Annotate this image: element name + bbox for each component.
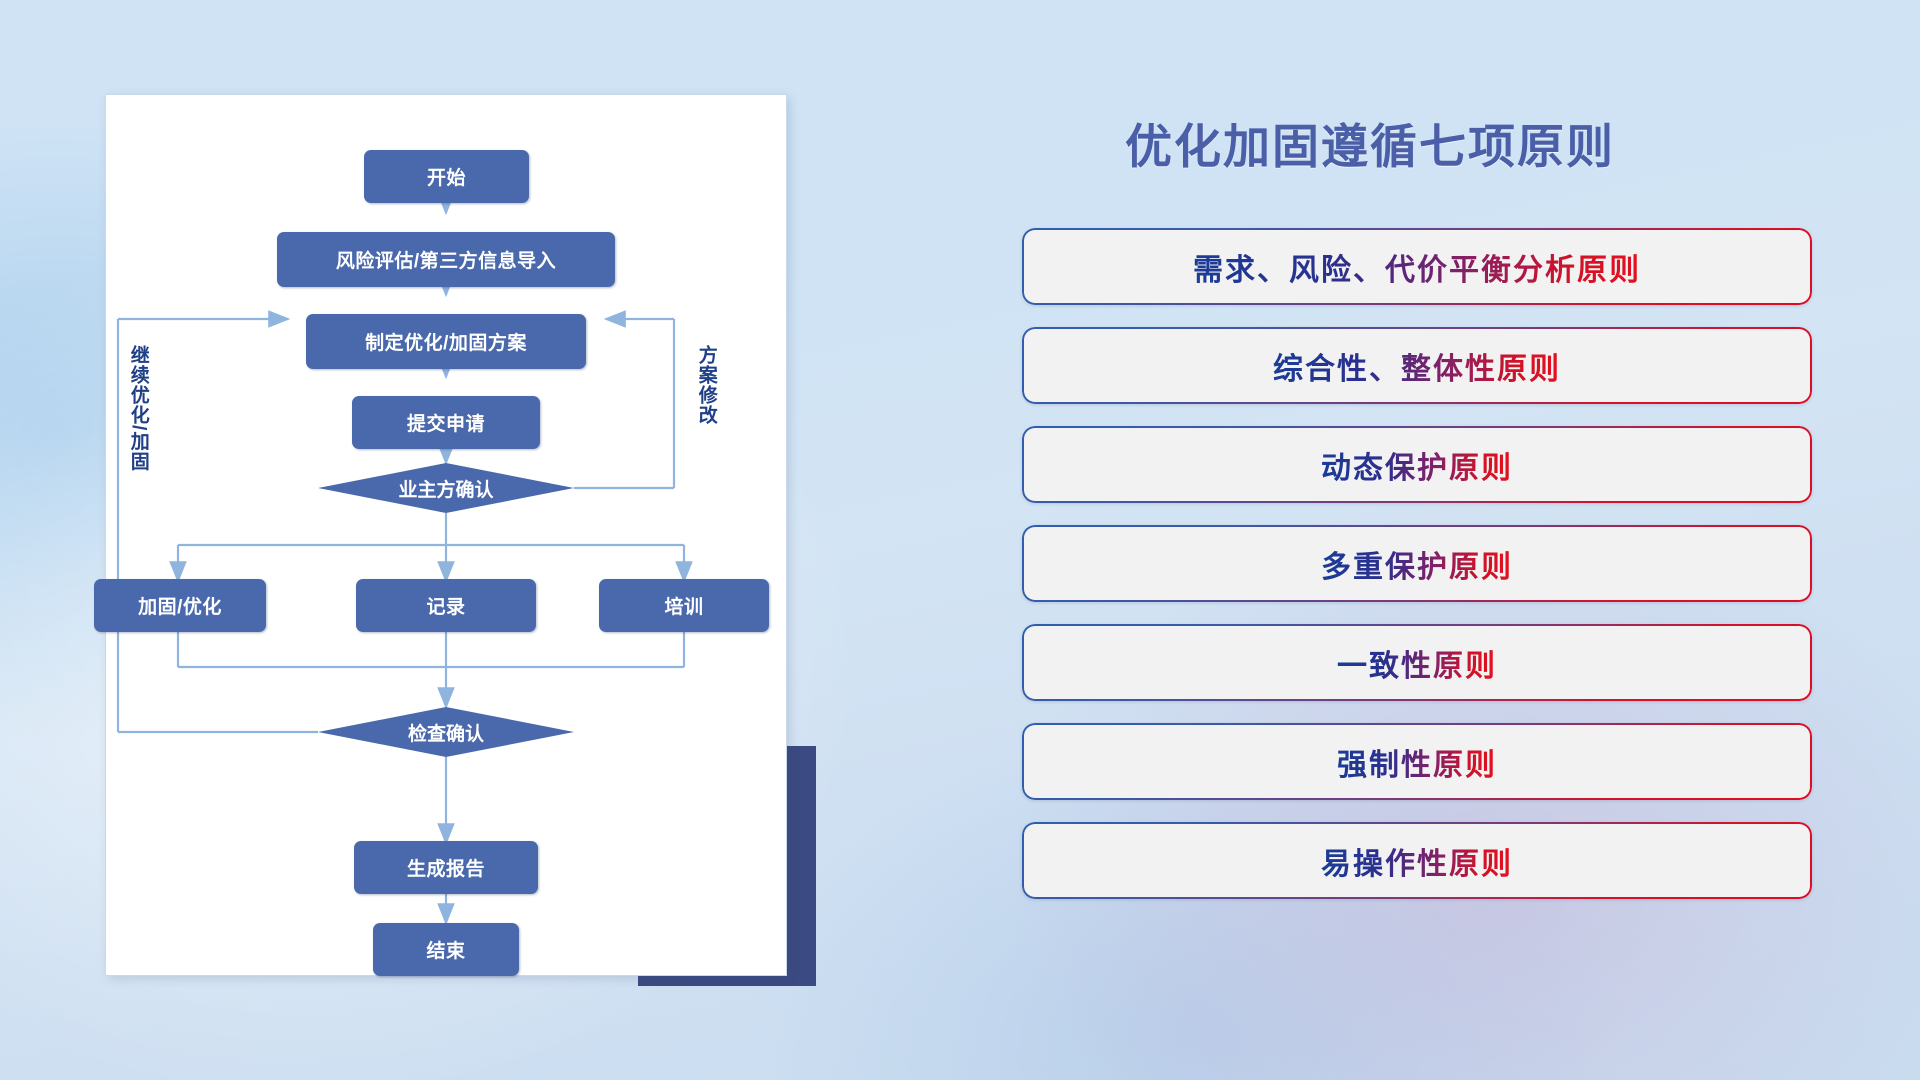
principle-label-3: 动态保护原则 xyxy=(1321,443,1513,487)
principle-label-6: 强制性原则 xyxy=(1337,740,1497,784)
principle-card-list: 需求、风险、代价平衡分析原则 综合性、整体性原则 动态保护原则 多重保护原则 一… xyxy=(1022,228,1812,921)
page-title: 优化加固遵循七项原则 xyxy=(1020,108,1720,177)
principle-card-3[interactable]: 动态保护原则 xyxy=(1022,426,1812,503)
principle-card-1[interactable]: 需求、风险、代价平衡分析原则 xyxy=(1022,228,1812,305)
slide-canvas: 开始 风险评估/第三方信息导入 制定优化/加固方案 提交申请 业主方确认 加固/… xyxy=(0,0,1920,1080)
node-end[interactable]: 结束 xyxy=(373,923,519,976)
principle-card-6[interactable]: 强制性原则 xyxy=(1022,723,1812,800)
principle-label-2: 综合性、整体性原则 xyxy=(1273,344,1561,388)
principle-card-4[interactable]: 多重保护原则 xyxy=(1022,525,1812,602)
decision-owner-confirm xyxy=(318,463,574,513)
principle-label-4: 多重保护原则 xyxy=(1321,542,1513,586)
edge-label-plan-revision: 方案修改 xyxy=(696,345,716,425)
node-start[interactable]: 开始 xyxy=(364,150,529,203)
node-record[interactable]: 记录 xyxy=(356,579,536,632)
principle-card-2[interactable]: 综合性、整体性原则 xyxy=(1022,327,1812,404)
principle-card-7[interactable]: 易操作性原则 xyxy=(1022,822,1812,899)
node-training[interactable]: 培训 xyxy=(599,579,769,632)
node-reinforce-optimize[interactable]: 加固/优化 xyxy=(94,579,266,632)
node-risk-assessment[interactable]: 风险评估/第三方信息导入 xyxy=(277,232,615,287)
edge-label-continue-optimize: 继续优化/加固 xyxy=(128,345,148,471)
node-generate-report[interactable]: 生成报告 xyxy=(354,841,538,894)
principle-label-5: 一致性原则 xyxy=(1337,641,1497,685)
decision-check-confirm xyxy=(318,707,574,757)
flowchart-panel: 开始 风险评估/第三方信息导入 制定优化/加固方案 提交申请 业主方确认 加固/… xyxy=(106,95,786,975)
node-submit-application[interactable]: 提交申请 xyxy=(352,396,540,449)
principle-label-7: 易操作性原则 xyxy=(1321,839,1513,883)
principle-card-5[interactable]: 一致性原则 xyxy=(1022,624,1812,701)
principle-label-1: 需求、风险、代价平衡分析原则 xyxy=(1193,245,1641,289)
node-make-plan[interactable]: 制定优化/加固方案 xyxy=(306,314,586,369)
